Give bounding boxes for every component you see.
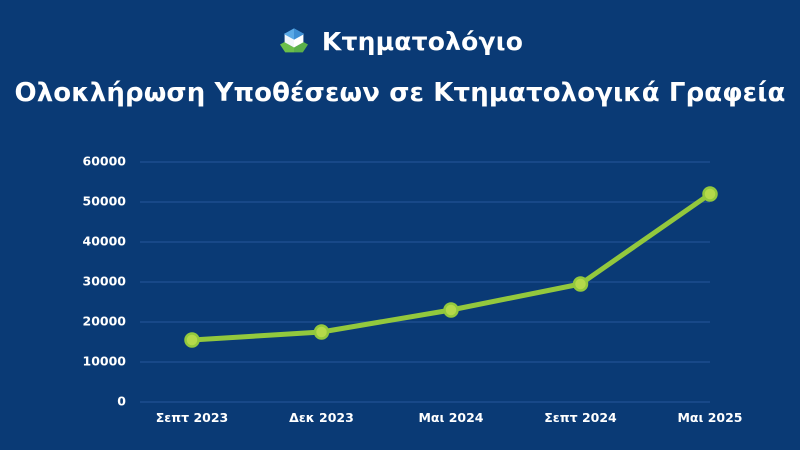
brand-name: Κτηματολόγιο — [322, 29, 523, 54]
y-axis-tick-label: 50000 — [83, 194, 127, 209]
gridlines — [140, 162, 710, 402]
data-point-marker[interactable] — [704, 188, 717, 201]
data-point-marker[interactable] — [574, 278, 587, 291]
series-line-completed-cases — [192, 194, 710, 340]
y-axis-tick-label: 40000 — [83, 234, 127, 249]
data-point-marker[interactable] — [186, 334, 199, 347]
y-axis-tick-label: 20000 — [83, 314, 127, 329]
y-axis-tick-label: 10000 — [83, 354, 127, 369]
cube-on-checkmark-logo-icon — [277, 24, 311, 58]
y-axis-tick-label: 30000 — [83, 274, 127, 289]
y-axis-tick-label: 0 — [117, 394, 126, 409]
x-axis-tick-labels: Σεπτ 2023Δεκ 2023Μαι 2024Σεπτ 2024Μαι 20… — [156, 410, 743, 425]
x-axis-tick-label: Σεπτ 2024 — [544, 410, 617, 425]
x-axis-tick-label: Δεκ 2023 — [289, 410, 354, 425]
line-chart: 0100002000030000400005000060000 Σεπτ 202… — [0, 130, 800, 430]
chart-canvas: 0100002000030000400005000060000 Σεπτ 202… — [0, 130, 800, 430]
x-axis-tick-label: Μαι 2024 — [418, 410, 483, 425]
y-axis-tick-label: 60000 — [83, 154, 127, 169]
x-axis-tick-label: Μαι 2025 — [677, 410, 742, 425]
y-axis-tick-labels: 0100002000030000400005000060000 — [83, 154, 127, 409]
brand-header: Κτηματολόγιο — [0, 18, 800, 64]
data-point-marker[interactable] — [315, 326, 328, 339]
chart-title: Ολοκλήρωση Υποθέσεων σε Κτηματολογικά Γρ… — [0, 78, 800, 108]
x-axis-tick-label: Σεπτ 2023 — [156, 410, 229, 425]
data-point-marker[interactable] — [445, 304, 458, 317]
